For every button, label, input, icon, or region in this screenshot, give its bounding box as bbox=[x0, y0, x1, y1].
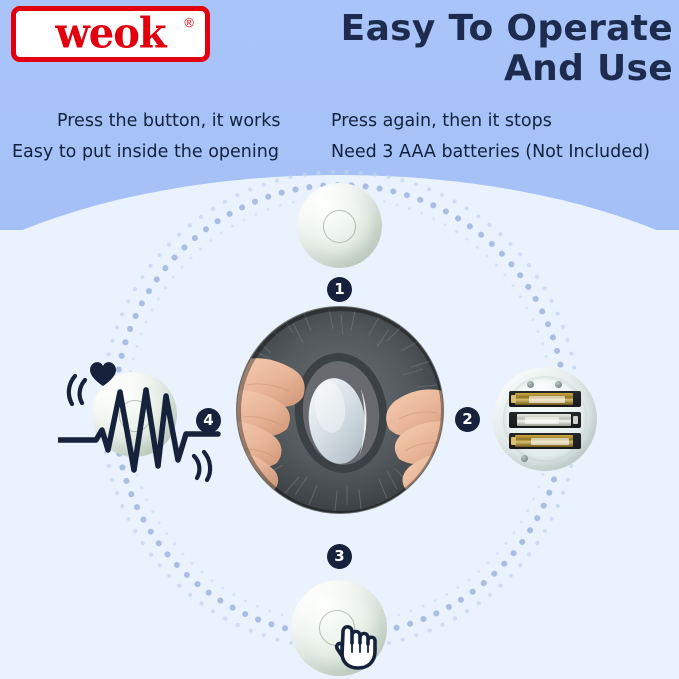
battery-slot bbox=[509, 391, 581, 407]
feature-text-right-2: Need 3 AAA batteries (Not Included) bbox=[331, 144, 650, 162]
battery-terminal bbox=[573, 416, 578, 424]
step-badge-3: 3 bbox=[327, 544, 352, 569]
battery-terminal bbox=[511, 437, 516, 445]
screw-icon bbox=[521, 455, 528, 462]
step-1-device-ball bbox=[297, 183, 382, 268]
battery-slot bbox=[509, 433, 581, 449]
step-badge-2: 2 bbox=[455, 407, 480, 432]
aaa-battery bbox=[515, 393, 573, 405]
feature-list: Press the button, it works Easy to put i… bbox=[0, 108, 679, 174]
step-badge-1: 1 bbox=[327, 277, 352, 302]
plush-toy-insert-illustration bbox=[237, 307, 444, 514]
ball-press-button bbox=[323, 210, 356, 243]
battery-terminal bbox=[511, 395, 516, 403]
screw-icon bbox=[527, 381, 534, 388]
brand-logo-text: weok bbox=[55, 13, 165, 55]
registered-trademark-icon: ® bbox=[184, 16, 194, 29]
feature-text-right-1: Press again, then it stops bbox=[331, 113, 552, 131]
vibration-waves-icon bbox=[69, 376, 85, 404]
battery-slot bbox=[509, 412, 581, 428]
screw-icon bbox=[555, 381, 562, 388]
pointing-hand-icon bbox=[330, 612, 392, 672]
battery-label bbox=[529, 396, 565, 403]
product-infographic: weok ® Easy To Operate And Use Press the… bbox=[0, 0, 679, 679]
feature-text-left-1: Press the button, it works bbox=[57, 113, 281, 131]
aaa-battery bbox=[515, 435, 573, 447]
battery-label bbox=[531, 438, 569, 445]
title-line-1: Easy To Operate bbox=[225, 9, 673, 49]
step-2-battery-compartment bbox=[493, 367, 597, 471]
page-title: Easy To Operate And Use bbox=[225, 9, 673, 90]
feature-text-left-2: Easy to put inside the opening bbox=[12, 144, 279, 162]
center-product-photo bbox=[236, 306, 444, 514]
battery-label bbox=[525, 417, 559, 424]
aaa-battery bbox=[517, 414, 571, 426]
brand-logo: weok ® bbox=[11, 6, 210, 62]
title-line-2: And Use bbox=[225, 49, 673, 89]
step-badge-4: 4 bbox=[196, 408, 221, 433]
battery-slots bbox=[509, 391, 581, 449]
vibration-waves-icon bbox=[194, 452, 210, 480]
heart-icon bbox=[90, 362, 116, 386]
